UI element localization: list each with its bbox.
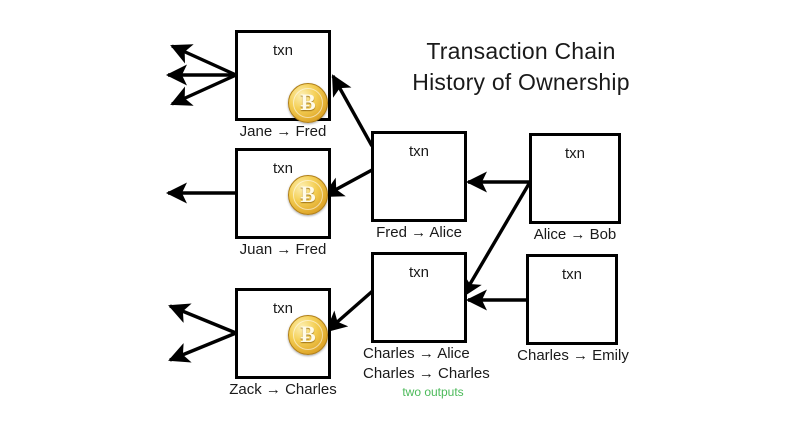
txn-box-label: txn [532, 145, 618, 162]
bitcoin-symbol: Ƀ [289, 84, 327, 122]
txn-box-label: txn [238, 300, 328, 317]
caption-juan-fred: Juan → Fred [235, 240, 331, 260]
txn-box-alice-bob[interactable]: txn [529, 133, 621, 224]
txn-box-label: txn [238, 160, 328, 177]
note-two-outputs: two outputs [363, 385, 503, 399]
caption-alice-bob: Alice → Bob [523, 225, 627, 245]
caption-jane-fred: Jane → Fred [235, 122, 331, 142]
arrow-alice-bob-to-charles-alice [463, 182, 530, 296]
diagram-title: Transaction Chain History of Ownership [396, 36, 646, 98]
txn-box-fred-alice[interactable]: txn [371, 131, 467, 222]
bitcoin-coin-icon-jane-fred: Ƀ [288, 83, 328, 123]
caption-fred-alice: Fred → Alice [367, 223, 471, 243]
bitcoin-coin-icon-zack-charles: Ƀ [288, 315, 328, 355]
txn-box-charles-alice[interactable]: txn [371, 252, 467, 343]
txn-box-label: txn [374, 143, 464, 160]
bitcoin-symbol: Ƀ [289, 316, 327, 354]
caption-charles-alice-line2: Charles → Charles [363, 364, 523, 384]
title-line-2: History of Ownership [396, 67, 646, 98]
diagram-canvas: Transaction Chain History of Ownership t… [0, 0, 807, 443]
arrow-fred-alice-to-jane-fred [333, 76, 372, 146]
arrow-charles-alice-to-zack-charles [327, 288, 376, 331]
txn-box-charles-emily[interactable]: txn [526, 254, 618, 345]
bitcoin-symbol: Ƀ [289, 176, 327, 214]
txn-box-label: txn [374, 264, 464, 281]
title-line-1: Transaction Chain [396, 36, 646, 67]
caption-charles-alice-line1: Charles → Alice [363, 344, 523, 364]
arrow-fred-alice-to-juan-fred [324, 170, 372, 196]
bitcoin-coin-icon-juan-fred: Ƀ [288, 175, 328, 215]
caption-zack-charles: Zack → Charles [223, 380, 343, 400]
txn-box-label: txn [529, 266, 615, 283]
arrow-jane-fred-outputs [168, 46, 236, 104]
txn-box-label: txn [238, 42, 328, 59]
caption-charles-emily: Charles → Emily [513, 346, 633, 366]
arrow-zack-charles-outputs [170, 306, 236, 360]
